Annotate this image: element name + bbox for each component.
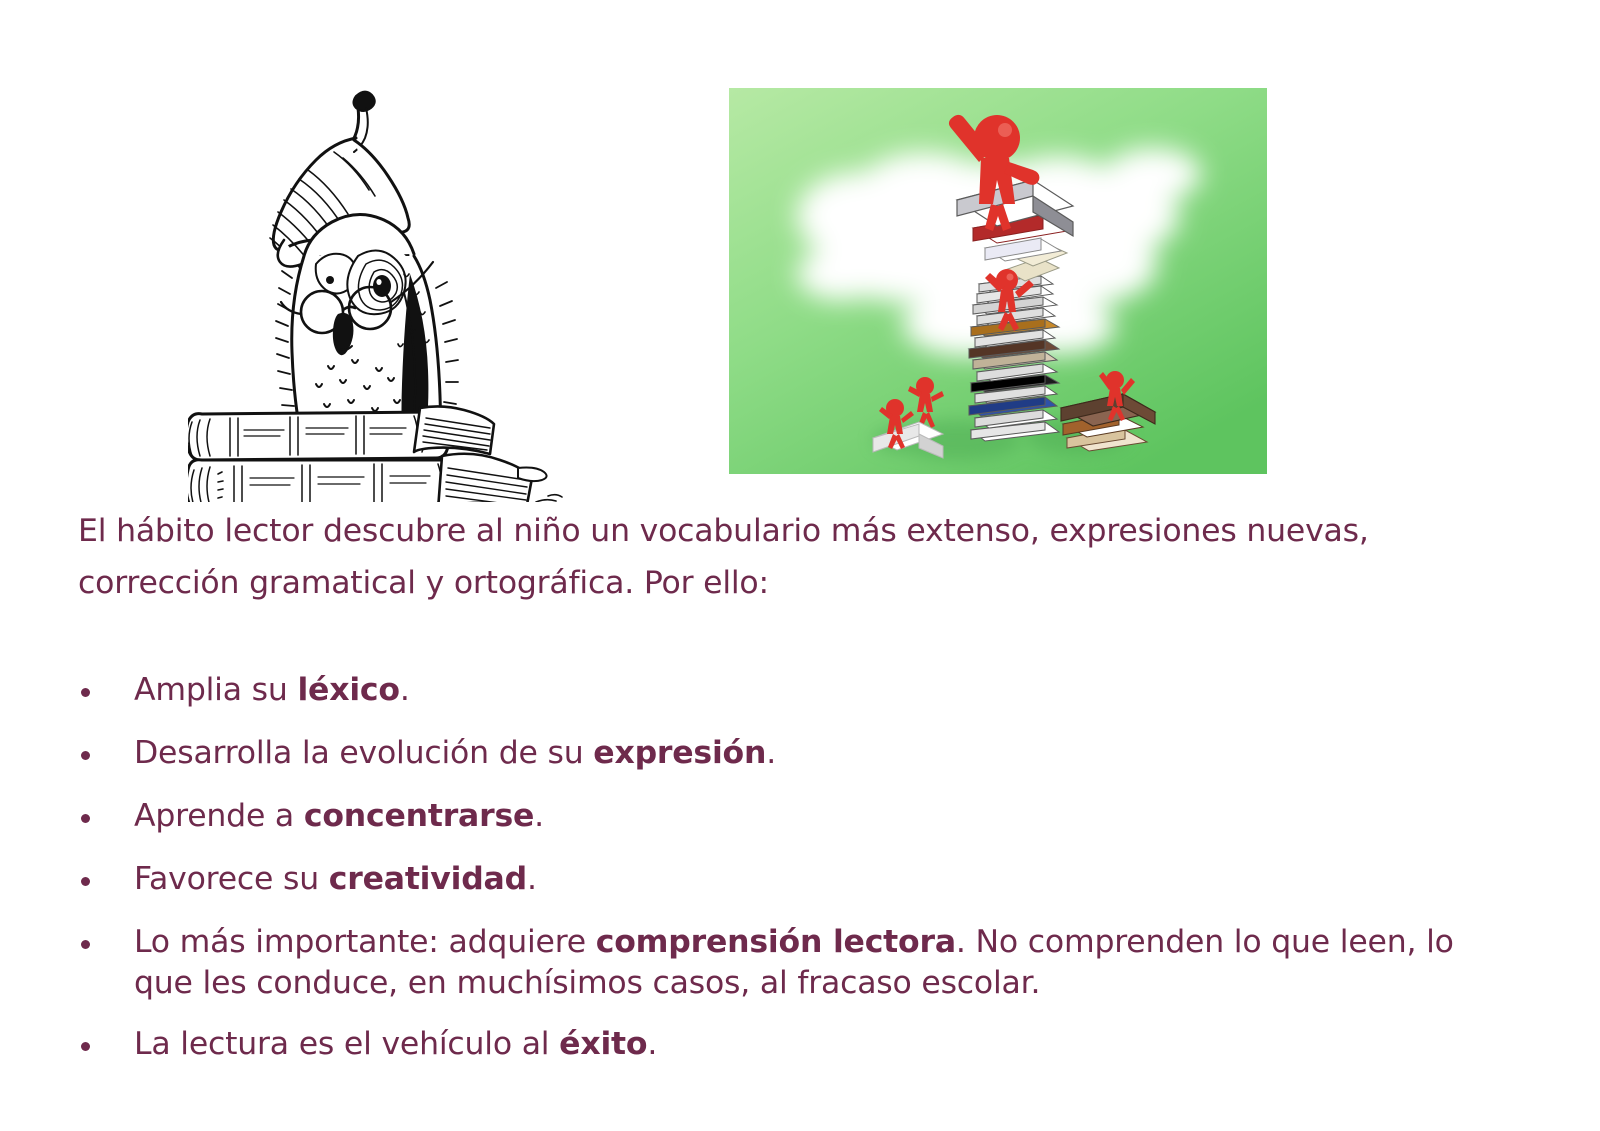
red-figures-climbing-books-illustration bbox=[729, 88, 1267, 474]
list-item: Lo más importante: adquiere comprensión … bbox=[78, 922, 1498, 1004]
benefits-bullet-list: Amplia su léxico. Desarrolla la evolució… bbox=[78, 670, 1498, 1087]
list-item-text: Amplia su léxico. bbox=[134, 670, 1498, 711]
list-item-text: Aprende a concentrarse. bbox=[134, 796, 1498, 837]
bullet-dot-icon bbox=[81, 814, 90, 823]
list-item-text: Desarrolla la evolución de su expresión. bbox=[134, 733, 1498, 774]
list-item-text: Favorece su creatividad. bbox=[134, 859, 1498, 900]
list-item: Desarrolla la evolución de su expresión. bbox=[78, 733, 1498, 774]
body-text-block: El hábito lector descubre al niño un voc… bbox=[78, 505, 1498, 609]
list-item-text: La lectura es el vehículo al éxito. bbox=[134, 1024, 1498, 1065]
lead-paragraph: El hábito lector descubre al niño un voc… bbox=[78, 505, 1408, 609]
owl-reading-on-books-illustration bbox=[188, 78, 592, 502]
list-item-text: Lo más importante: adquiere comprensión … bbox=[134, 922, 1498, 1004]
bullet-dot-icon bbox=[81, 1042, 90, 1051]
bullet-dot-icon bbox=[81, 688, 90, 697]
bullet-dot-icon bbox=[81, 877, 90, 886]
list-item: La lectura es el vehículo al éxito. bbox=[78, 1024, 1498, 1065]
list-item: Favorece su creatividad. bbox=[78, 859, 1498, 900]
list-item: Aprende a concentrarse. bbox=[78, 796, 1498, 837]
bullet-dot-icon bbox=[81, 940, 90, 949]
slide-canvas: El hábito lector descubre al niño un voc… bbox=[0, 0, 1600, 1131]
bullet-dot-icon bbox=[81, 751, 90, 760]
list-item: Amplia su léxico. bbox=[78, 670, 1498, 711]
